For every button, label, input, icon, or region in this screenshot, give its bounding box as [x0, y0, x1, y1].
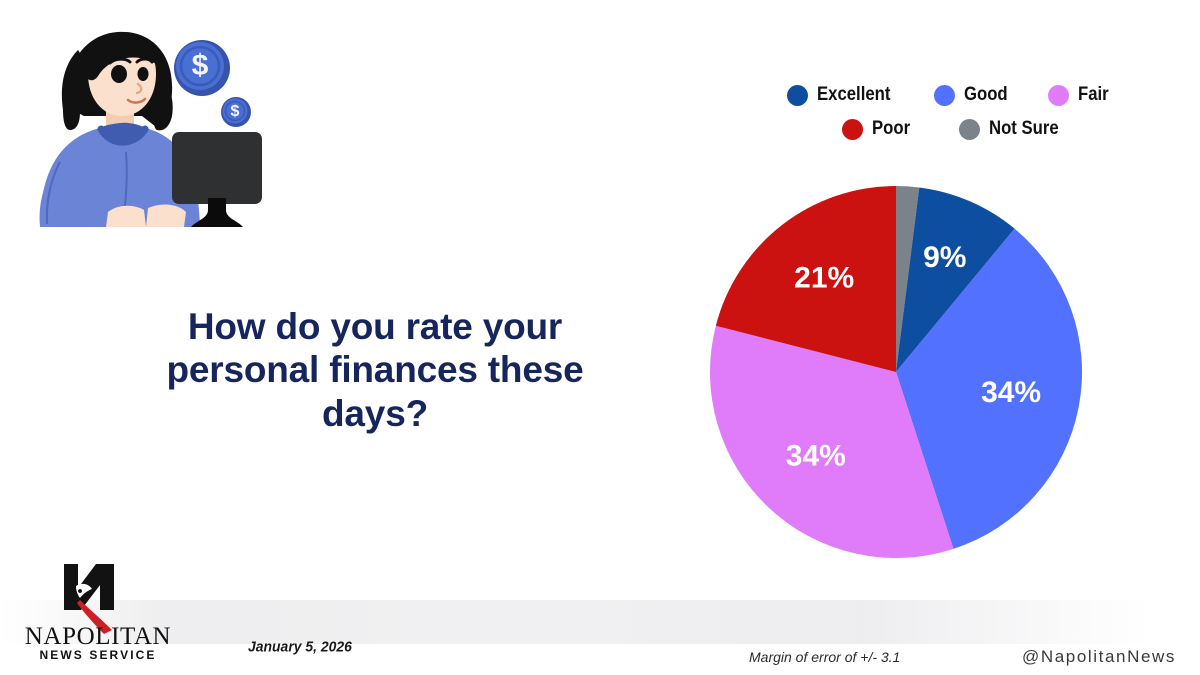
pie-slice-label: 34% [981, 376, 1041, 409]
legend-item-label: Good [964, 84, 1008, 106]
pie-chart: How do you rate your personal finances t… [706, 182, 1086, 562]
pie-slice-label: 21% [794, 261, 854, 294]
legend-item-label: Poor [872, 118, 910, 140]
pie-slice-label: 34% [786, 439, 846, 472]
legend-item-good[interactable]: Good [934, 84, 1014, 106]
legend-item-fair[interactable]: Fair [1048, 84, 1113, 106]
legend-swatch-icon [959, 119, 980, 140]
poll-question-block: How do you rate your personal finances t… [120, 305, 630, 435]
social-handle: @NapolitanNews [1022, 647, 1176, 667]
poll-date: January 5, 2026 [248, 639, 352, 656]
legend-item-label: Fair [1078, 84, 1109, 106]
svg-text:$: $ [231, 103, 240, 120]
woman-at-computer-illustration: $ $ [22, 12, 272, 227]
svg-text:$: $ [192, 49, 209, 82]
legend-item-not-sure[interactable]: Not Sure [959, 118, 1068, 140]
legend-swatch-icon [842, 119, 863, 140]
logo-brand-text: NAPOLITAN [25, 623, 171, 650]
logo-tagline-text: NEWS SERVICE [40, 648, 157, 662]
legend-item-label: Not Sure [989, 118, 1059, 140]
poll-slide: $ $ How do you rate your personal financ… [0, 0, 1200, 675]
legend-item-poor[interactable]: Poor [842, 118, 915, 140]
legend-swatch-icon [1048, 85, 1069, 106]
chart-legend: Excellent Good Fair Poor Not Sure [700, 84, 1200, 152]
page-title: How do you rate your personal finances t… [120, 305, 630, 435]
legend-row-1: Excellent Good Fair [700, 84, 1200, 106]
legend-row-2: Poor Not Sure [700, 118, 1200, 140]
footer-gradient-band [0, 600, 1200, 644]
pie-slice-label: 9% [923, 241, 966, 274]
legend-item-label: Excellent [817, 84, 890, 106]
legend-swatch-icon [934, 85, 955, 106]
legend-item-excellent[interactable]: Excellent [787, 84, 900, 106]
napolitan-logo[interactable]: NAPOLITAN NEWS SERVICE [20, 558, 176, 663]
pie-chart-svg: How do you rate your personal finances t… [706, 182, 1086, 562]
legend-swatch-icon [787, 85, 808, 106]
margin-of-error: Margin of error of +/- 3.1 [749, 649, 900, 665]
